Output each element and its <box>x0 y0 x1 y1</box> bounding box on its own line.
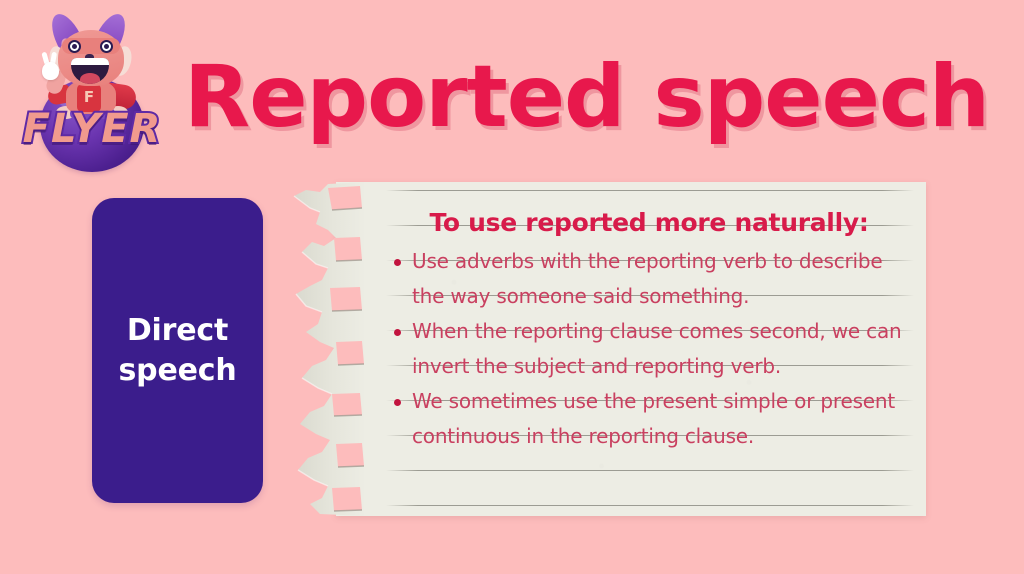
mascot-cape-letter: F <box>77 86 101 108</box>
mascot-pupil-left-icon <box>72 44 77 49</box>
list-item: Use adverbs with the reporting verb to d… <box>384 244 914 314</box>
direct-speech-card: Direct speech <box>92 198 263 503</box>
direct-speech-label-line1: Direct <box>127 313 228 348</box>
note-heading: To use reported more naturally: <box>384 206 914 240</box>
direct-speech-label: Direct speech <box>119 311 237 391</box>
mascot-glove-icon <box>42 62 59 80</box>
flyer-wordmark: FLYER <box>22 106 162 152</box>
mascot-teeth-icon <box>71 58 109 65</box>
list-item: We sometimes use the present simple or p… <box>384 384 914 454</box>
note-content: To use reported more naturally: Use adve… <box>384 206 914 454</box>
direct-speech-label-line2: speech <box>119 353 237 388</box>
flyer-logo: F FLYER <box>14 2 166 174</box>
slide-canvas: F FLYER Reported speech Direct speech <box>0 0 1024 574</box>
note-bullet-list: Use adverbs with the reporting verb to d… <box>384 244 914 454</box>
reported-speech-note: To use reported more naturally: Use adve… <box>276 182 926 516</box>
mascot-pupil-right-icon <box>104 44 109 49</box>
page-title: Reported speech <box>184 47 984 147</box>
mascot-tongue-icon <box>80 73 100 84</box>
list-item: When the reporting clause comes second, … <box>384 314 914 384</box>
torn-paper-edge-icon <box>276 182 366 516</box>
